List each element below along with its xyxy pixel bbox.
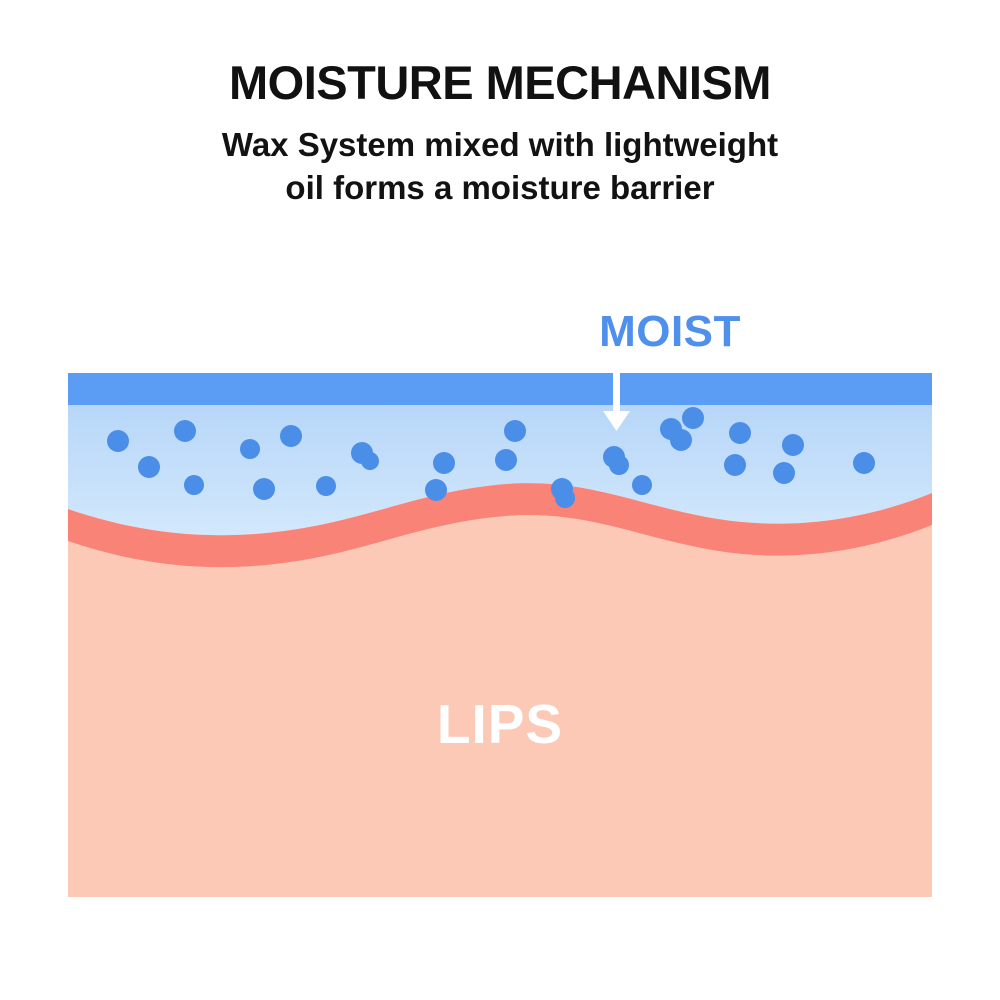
page-subtitle: Wax System mixed with lightweight oil fo…: [0, 123, 1000, 210]
droplet: [660, 418, 682, 440]
droplet: [240, 439, 260, 459]
droplet: [184, 475, 204, 495]
droplet: [773, 462, 795, 484]
droplet: [425, 479, 447, 501]
droplet: [724, 454, 746, 476]
lips-label: LIPS: [0, 697, 1000, 752]
lip-cross-section-diagram: [68, 373, 932, 897]
droplet: [107, 430, 129, 452]
droplet: [174, 420, 196, 442]
droplet: [682, 407, 704, 429]
infographic-canvas: MOISTURE MECHANISM Wax System mixed with…: [0, 0, 1000, 1000]
droplet: [280, 425, 302, 447]
droplet: [853, 452, 875, 474]
droplet: [316, 476, 336, 496]
moist-callout-label: MOIST: [570, 310, 770, 354]
droplet: [632, 475, 652, 495]
cross-section-svg: [68, 373, 932, 897]
page-subtitle-line-1: Wax System mixed with lightweight: [0, 123, 1000, 167]
droplet: [433, 452, 455, 474]
droplet: [555, 488, 575, 508]
droplet: [253, 478, 275, 500]
droplet: [504, 420, 526, 442]
wax-barrier-band: [68, 373, 932, 405]
droplet: [729, 422, 751, 444]
droplet: [138, 456, 160, 478]
header-block: MOISTURE MECHANISM Wax System mixed with…: [0, 58, 1000, 210]
page-subtitle-line-2: oil forms a moisture barrier: [0, 166, 1000, 210]
droplet: [495, 449, 517, 471]
page-title: MOISTURE MECHANISM: [0, 58, 1000, 109]
droplet: [609, 455, 629, 475]
droplet: [782, 434, 804, 456]
droplet: [361, 452, 379, 470]
